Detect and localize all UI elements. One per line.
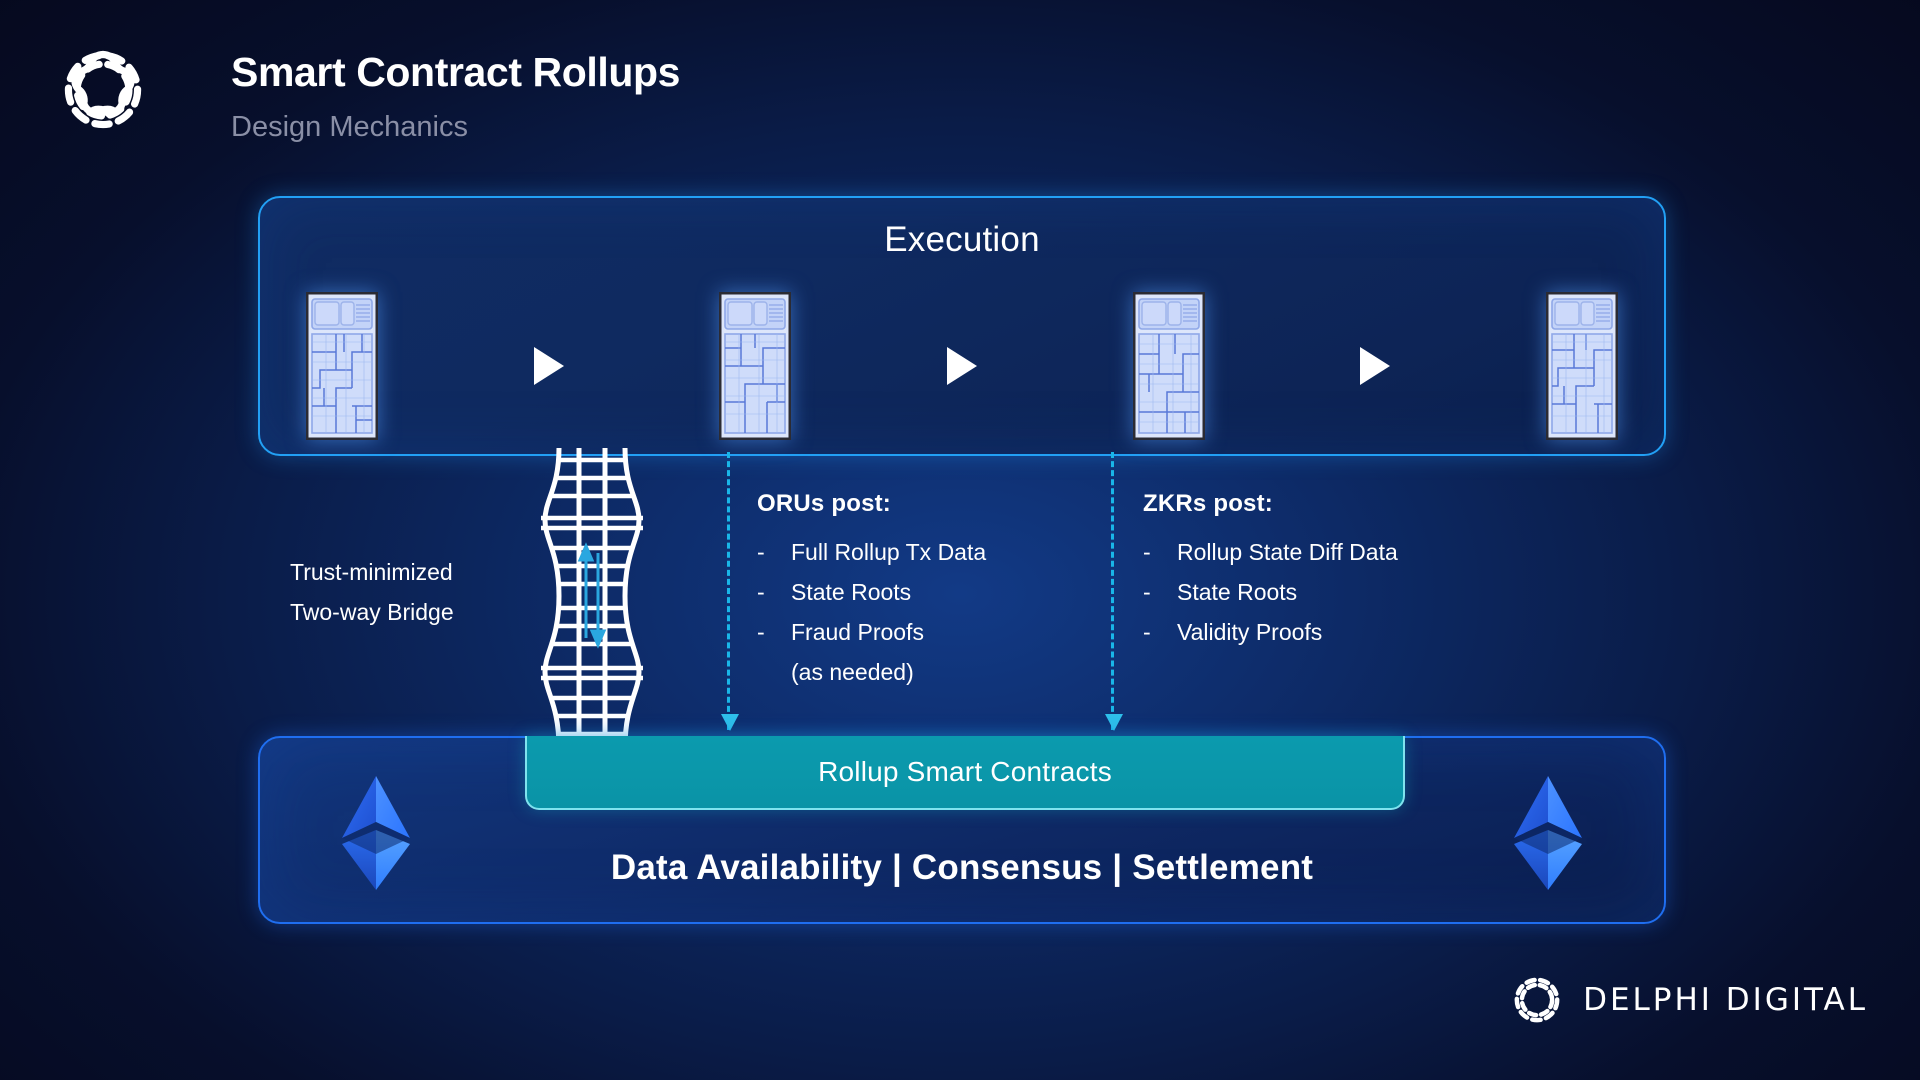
bullet-dash: - <box>1143 532 1177 572</box>
oru-item-label: Fraud Proofs <box>791 612 924 652</box>
play-arrow-icon-1 <box>534 347 564 385</box>
execution-blocks-row <box>306 290 1618 442</box>
zkr-item-label: Rollup State Diff Data <box>1177 532 1398 572</box>
page-title: Smart Contract Rollups <box>231 52 680 93</box>
bridge-label-line2: Two-way Bridge <box>290 592 520 632</box>
delphi-knot-logo <box>55 38 151 142</box>
dashed-down-arrow-icon-oru <box>721 452 735 730</box>
arrow-head <box>1105 714 1123 731</box>
oru-item-2: - Fraud Proofs <box>757 612 1087 652</box>
zkr-item-1: - State Roots <box>1143 572 1483 612</box>
oru-heading: ORUs post: <box>757 490 1087 518</box>
zkr-item-0: - Rollup State Diff Data <box>1143 532 1483 572</box>
bridge-label: Trust-minimized Two-way Bridge <box>290 552 520 632</box>
bullet-dash: - <box>1143 572 1177 612</box>
block-4-icon <box>1546 292 1618 440</box>
dashed-down-arrow-icon-zkr <box>1105 452 1119 730</box>
zkr-item-label: Validity Proofs <box>1177 612 1322 652</box>
block-2-icon <box>719 292 791 440</box>
arrow-head <box>721 714 739 731</box>
bullet-dash: - <box>757 612 791 652</box>
footer-branding: DELPHI DIGITAL <box>1509 972 1868 1028</box>
execution-layer-box: Execution <box>258 196 1666 456</box>
oru-post-column: ORUs post: - Full Rollup Tx Data - State… <box>757 490 1087 692</box>
execution-title: Execution <box>260 220 1664 260</box>
settlement-base-label: Data Availability | Consensus | Settleme… <box>260 848 1664 888</box>
play-arrow-icon-2 <box>947 347 977 385</box>
rollup-smart-contracts-bar: Rollup Smart Contracts <box>525 736 1405 810</box>
oru-item-label: State Roots <box>791 572 911 612</box>
block-1-icon <box>306 292 378 440</box>
bridge-label-line1: Trust-minimized <box>290 552 520 592</box>
delphi-digital-wordmark: DELPHI DIGITAL <box>1583 982 1868 1018</box>
bullet-dash: - <box>1143 612 1177 652</box>
dashed-line <box>1111 452 1114 730</box>
zkr-heading: ZKRs post: <box>1143 490 1483 518</box>
oru-item-label: Full Rollup Tx Data <box>791 532 986 572</box>
zkr-post-column: ZKRs post: - Rollup State Diff Data - St… <box>1143 490 1483 652</box>
zkr-item-label: State Roots <box>1177 572 1297 612</box>
oru-item-1: - State Roots <box>757 572 1087 612</box>
oru-item-continuation: (as needed) <box>757 652 1087 692</box>
play-arrow-icon-3 <box>1360 347 1390 385</box>
bullet-dash: - <box>757 572 791 612</box>
delphi-knot-logo <box>1509 972 1565 1028</box>
rollup-smart-contracts-label: Rollup Smart Contracts <box>818 756 1112 788</box>
dashed-line <box>727 452 730 730</box>
page-header: Smart Contract Rollups Design Mechanics <box>55 38 680 142</box>
oru-item-0: - Full Rollup Tx Data <box>757 532 1087 572</box>
page-subtitle: Design Mechanics <box>231 113 680 142</box>
bullet-dash: - <box>757 532 791 572</box>
two-way-bridge-icon <box>527 448 657 748</box>
header-text-group: Smart Contract Rollups Design Mechanics <box>231 52 680 142</box>
block-3-icon <box>1133 292 1205 440</box>
zkr-item-2: - Validity Proofs <box>1143 612 1483 652</box>
